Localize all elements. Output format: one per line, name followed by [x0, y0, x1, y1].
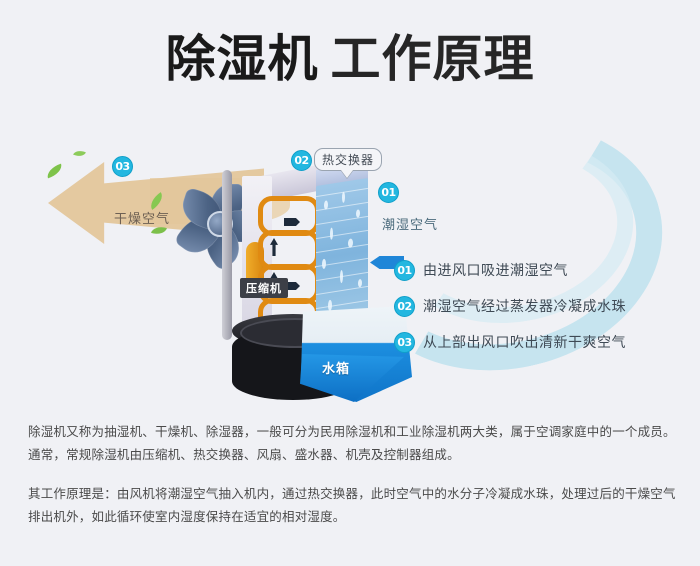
- badge-03-diagram: 03: [112, 156, 133, 177]
- title-sub: 工作原理: [331, 30, 535, 88]
- paragraph-2: 其工作原理是：由风机将潮湿空气抽入机内，通过热交换器，此时空气中的水分子冷凝成水…: [28, 482, 678, 528]
- dry-air-label: 干燥空气: [114, 208, 170, 227]
- legend-item-label: 由进风口吸进潮湿空气: [423, 260, 568, 280]
- compressor-label: 压缩机: [240, 278, 288, 298]
- badge-02: 02: [394, 296, 415, 317]
- title-main: 除湿机: [166, 30, 319, 88]
- legend-item: 01 由进风口吸进潮湿空气: [394, 252, 694, 288]
- legend-list: 01 由进风口吸进潮湿空气 02 潮湿空气经过蒸发器冷凝成水珠 03 从上部出风…: [394, 252, 694, 360]
- description-text: 除湿机又称为抽湿机、干燥机、除湿器，一般可分为民用除湿机和工业除湿机两大类，属于…: [28, 420, 678, 544]
- leaf-icon: [45, 164, 64, 179]
- legend-item: 03 从上部出风口吹出清新干爽空气: [394, 324, 694, 360]
- legend-item: 02 潮湿空气经过蒸发器冷凝成水珠: [394, 288, 694, 324]
- paragraph-1: 除湿机又称为抽湿机、干燥机、除湿器，一般可分为民用除湿机和工业除湿机两大类，属于…: [28, 420, 678, 466]
- legend-item-label: 潮湿空气经过蒸发器冷凝成水珠: [423, 296, 626, 316]
- refrigerant-pipe: [222, 170, 232, 340]
- leaf-icon: [73, 148, 86, 159]
- infographic-page: 除湿机工作原理: [0, 0, 700, 566]
- badge-03: 03: [394, 332, 415, 353]
- water-tank-label: 水箱: [322, 358, 350, 377]
- badge-02-diagram: 02: [291, 150, 312, 171]
- badge-01: 01: [394, 260, 415, 281]
- heat-exchanger-callout: 热交换器: [314, 148, 382, 171]
- legend-item-label: 从上部出风口吹出清新干爽空气: [423, 332, 626, 352]
- humid-air-label: 潮湿空气: [382, 214, 438, 233]
- badge-01-diagram: 01: [378, 182, 399, 203]
- page-title: 除湿机工作原理: [0, 34, 700, 84]
